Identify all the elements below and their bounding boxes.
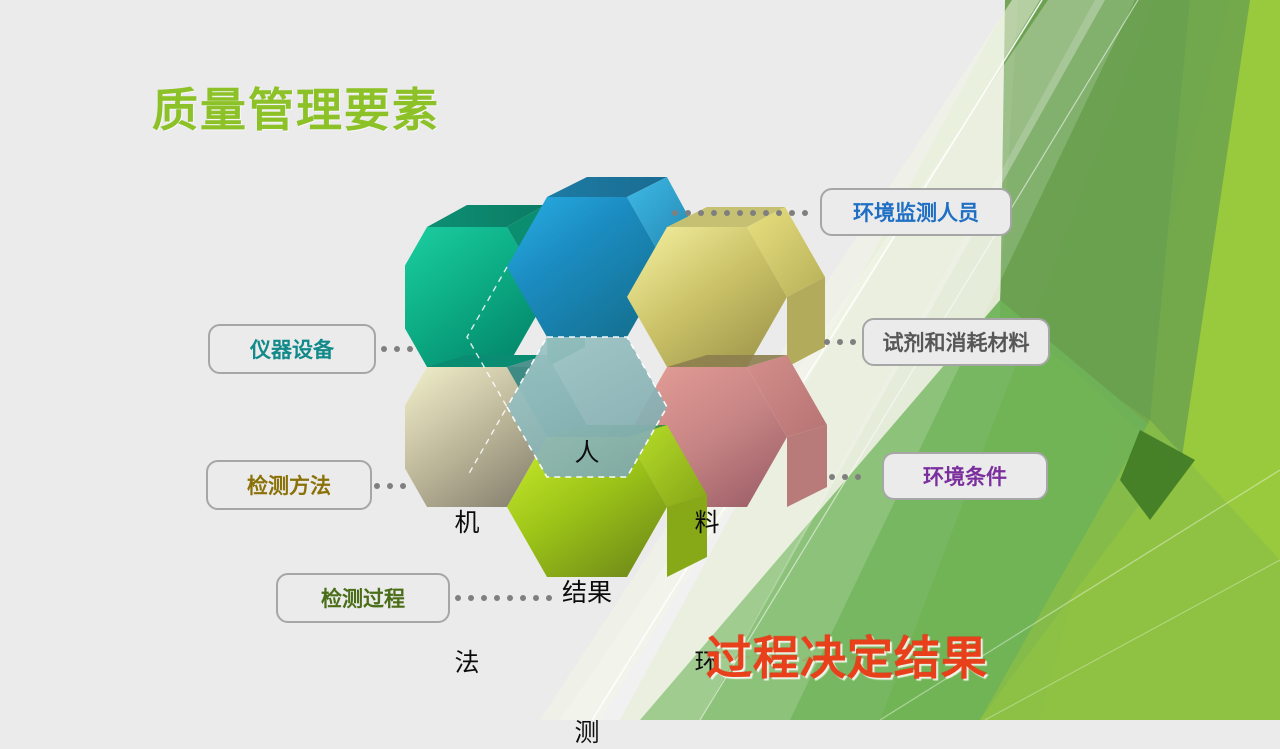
callout-personnel-label: 环境监测人员 xyxy=(853,197,979,227)
callout-personnel[interactable]: 环境监测人员 xyxy=(820,188,1012,236)
hexagon-diagram: 人 料 环 测 法 机 结果 xyxy=(405,175,845,635)
callout-reagents-label: 试剂和消耗材料 xyxy=(883,327,1030,357)
slogan: 过程决定结果 xyxy=(706,622,988,688)
callout-process[interactable]: 检测过程 xyxy=(276,573,450,623)
callout-method[interactable]: 检测方法 xyxy=(206,460,372,510)
callout-equipment-label: 仪器设备 xyxy=(250,334,334,364)
slide-canvas: 质量管理要素 xyxy=(0,0,1280,720)
connector-personnel xyxy=(672,209,814,216)
connector-process xyxy=(455,594,561,601)
callout-method-label: 检测方法 xyxy=(247,470,331,500)
callout-conditions-label: 环境条件 xyxy=(923,461,1007,491)
callout-process-label: 检测过程 xyxy=(321,583,405,613)
hexagon-diagram-svg xyxy=(405,175,845,635)
callout-equipment[interactable]: 仪器设备 xyxy=(208,324,376,374)
connector-method xyxy=(374,482,410,489)
page-title: 质量管理要素 xyxy=(152,74,440,140)
callout-reagents[interactable]: 试剂和消耗材料 xyxy=(862,318,1050,366)
callout-conditions[interactable]: 环境条件 xyxy=(882,452,1048,500)
connector-conditions xyxy=(829,473,875,480)
connector-equipment xyxy=(381,345,417,352)
connector-reagents xyxy=(824,338,860,345)
